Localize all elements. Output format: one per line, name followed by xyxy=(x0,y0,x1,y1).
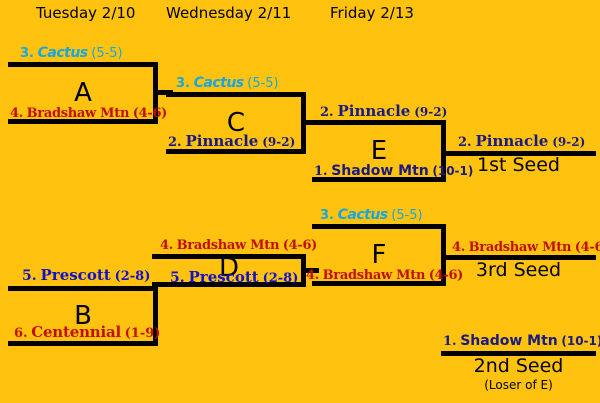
bracket-line-top xyxy=(312,224,446,229)
team-record: (5-5) xyxy=(391,208,422,223)
seed-number: 3. xyxy=(320,208,334,223)
team-record: (9-2) xyxy=(414,105,447,119)
team-name: Pinnacle xyxy=(185,132,258,150)
team-name: Centennial xyxy=(31,323,121,341)
team-label-a-bottom: 4. Bradshaw Mtn (4-6) xyxy=(10,106,167,120)
team-label-a-top: 3. Cactus (5-5) xyxy=(20,46,123,60)
team-record: (1-9) xyxy=(125,326,161,341)
team-label-b-bottom: 6. Centennial (1-9) xyxy=(14,325,160,340)
team-label-d-top: 4. Bradshaw Mtn (4-6) xyxy=(160,238,317,252)
seed-number: 4. xyxy=(306,268,319,283)
team-name: Prescott xyxy=(41,266,111,284)
result-seed-second: 2nd Seed xyxy=(441,357,596,376)
game-letter-a: A xyxy=(8,80,158,106)
seed-number: 1. xyxy=(443,334,457,349)
team-record: (9-2) xyxy=(262,135,295,149)
header-date-wednesday: Wednesday 2/11 xyxy=(166,4,291,22)
seed-number: 2. xyxy=(168,135,182,150)
team-name: Shadow Mtn xyxy=(460,333,558,349)
bracket-line-top xyxy=(8,286,158,291)
team-name: Pinnacle xyxy=(475,132,548,150)
team-record: (4-6) xyxy=(575,240,600,255)
seed-number: 2. xyxy=(320,105,334,120)
team-record: (9-2) xyxy=(552,135,585,149)
team-record: (2-8) xyxy=(263,271,299,286)
seed-number: 3. xyxy=(20,46,34,61)
header-date-friday: Friday 2/13 xyxy=(330,4,414,22)
result-label-third-team: 4. Bradshaw Mtn (4-6) xyxy=(452,240,600,254)
team-name: Bradshaw Mtn xyxy=(323,268,426,283)
team-label-c-top: 3. Cactus (5-5) xyxy=(176,76,279,90)
seed-number: 3. xyxy=(176,76,190,91)
seed-number: 4. xyxy=(452,240,465,255)
result-label-first-team: 2. Pinnacle (9-2) xyxy=(458,134,585,149)
bracket-line-top xyxy=(8,62,158,67)
team-label-f-bottom: 4. Bradshaw Mtn (4-6) xyxy=(306,268,463,282)
team-name: Bradshaw Mtn xyxy=(177,238,280,253)
seed-number: 4. xyxy=(10,106,23,121)
team-name: Bradshaw Mtn xyxy=(469,240,572,255)
team-record: (5-5) xyxy=(247,76,278,91)
team-record: (2-8) xyxy=(115,269,151,284)
seed-number: 5. xyxy=(22,268,37,284)
team-label-e-top: 2. Pinnacle (9-2) xyxy=(320,104,447,119)
game-letter-e: E xyxy=(312,138,446,164)
team-name: Shadow Mtn xyxy=(331,163,429,179)
team-name: Bradshaw Mtn xyxy=(27,106,130,121)
team-label-f-top: 3. Cactus (5-5) xyxy=(320,208,423,222)
team-label-b-top: 5. Prescott (2-8) xyxy=(22,268,150,283)
team-label-d-bottom: 5. Prescott (2-8) xyxy=(170,270,298,285)
team-record: (4-6) xyxy=(133,106,167,121)
header-date-tuesday: Tuesday 2/10 xyxy=(36,4,135,22)
seed-number: 1. xyxy=(314,164,328,179)
team-name: Cactus xyxy=(38,45,88,61)
bracket-line-top xyxy=(312,120,446,125)
team-name: Pinnacle xyxy=(337,102,410,120)
bracket-canvas: Tuesday 2/10 Wednesday 2/11 Friday 2/13 … xyxy=(0,0,600,403)
team-name: Cactus xyxy=(194,75,244,91)
team-record: (10-1) xyxy=(561,334,600,348)
team-name: Prescott xyxy=(189,268,259,286)
team-label-c-bottom: 2. Pinnacle (9-2) xyxy=(168,134,295,149)
result-seed-second-note: (Loser of E) xyxy=(441,379,596,391)
seed-number: 5. xyxy=(170,270,185,286)
seed-number: 6. xyxy=(14,326,28,341)
team-record: (5-5) xyxy=(91,46,122,61)
team-name: Cactus xyxy=(338,207,388,223)
result-label-second-team: 1. Shadow Mtn (10-1) xyxy=(443,334,600,348)
seed-number: 4. xyxy=(160,238,173,253)
game-letter-f: F xyxy=(312,242,446,268)
bracket-line-top xyxy=(166,92,306,97)
bracket-line-bottom xyxy=(8,341,158,346)
result-seed-third: 3rd Seed xyxy=(441,261,596,280)
result-seed-first: 1st Seed xyxy=(441,156,596,175)
seed-number: 2. xyxy=(458,135,472,150)
